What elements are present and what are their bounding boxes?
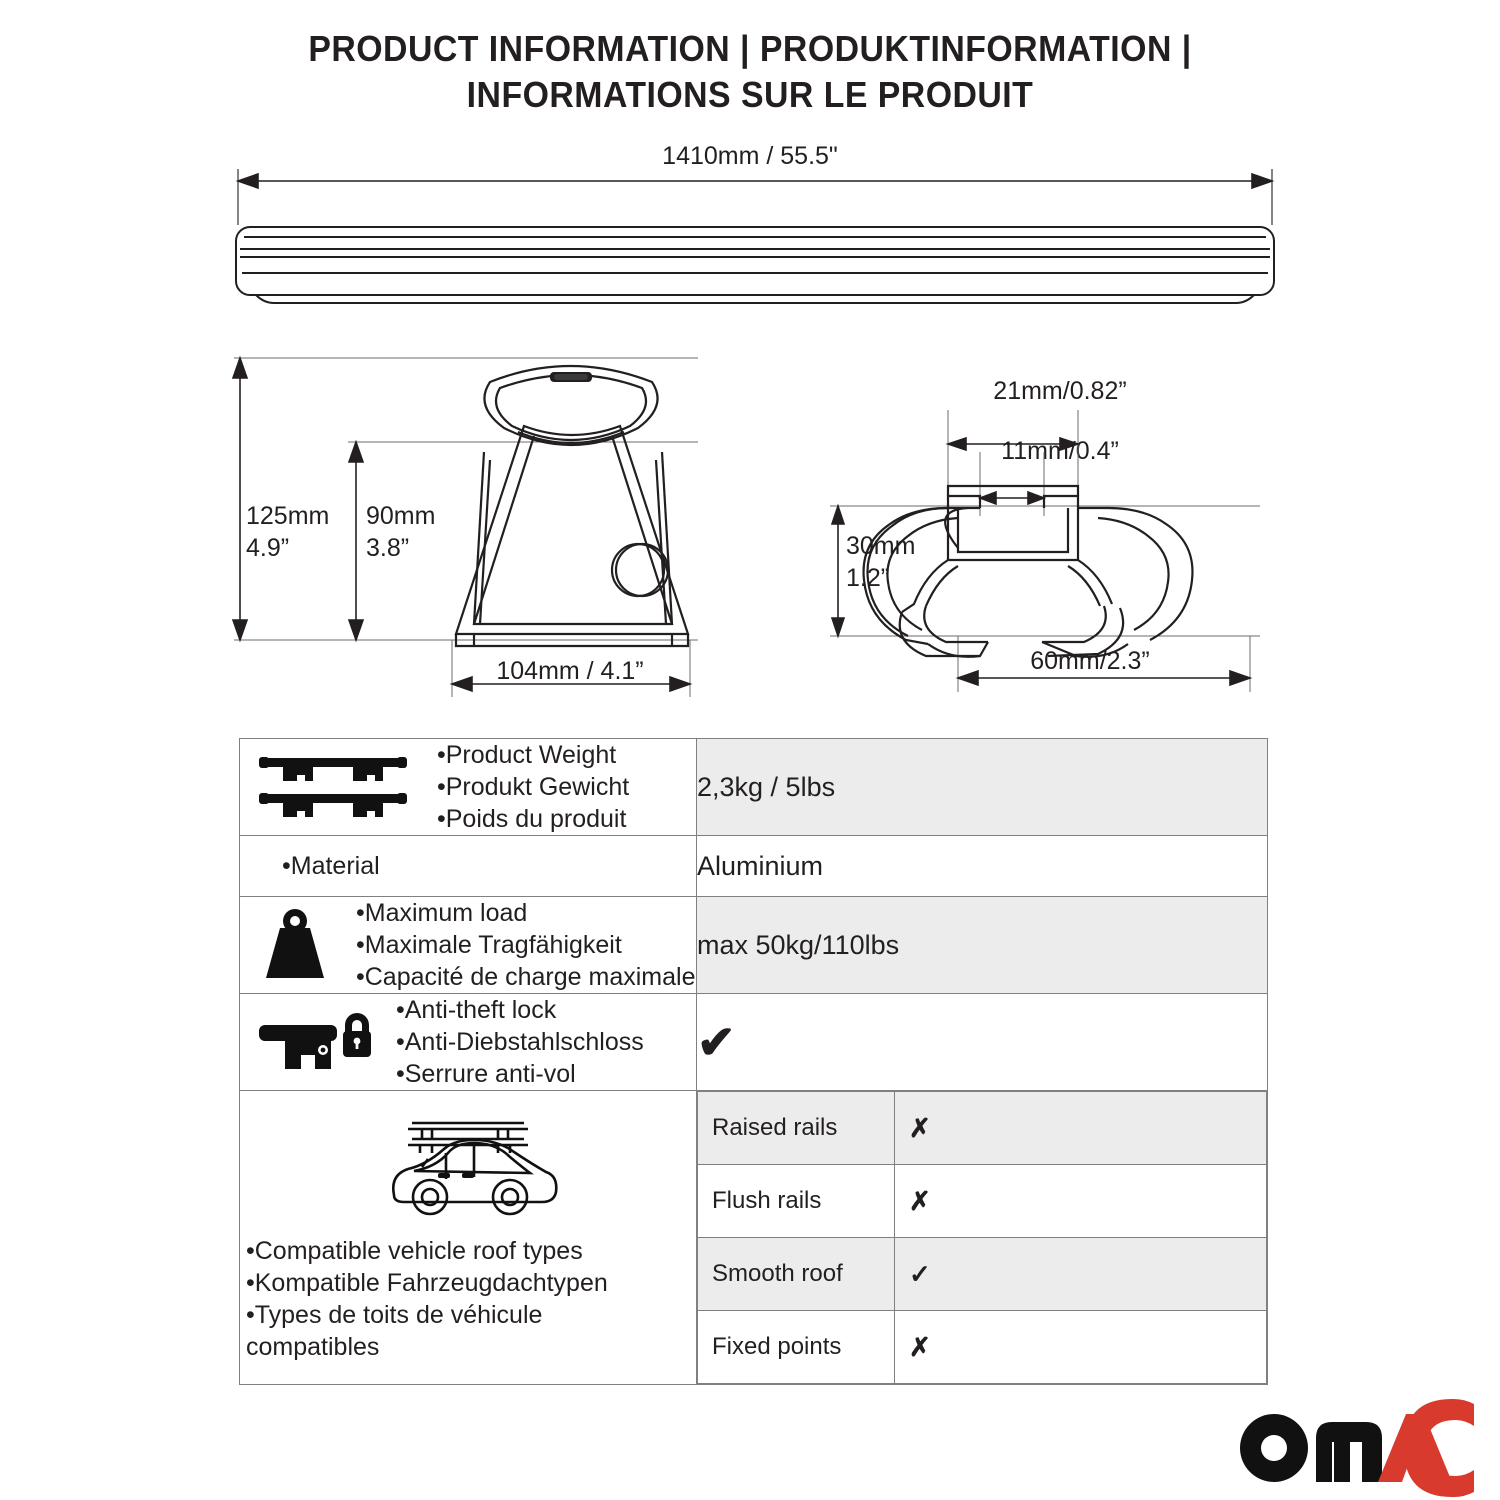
- material-label-cell: •Material: [240, 836, 697, 897]
- lock-label-cell: •Anti-theft lock •Anti-Diebstahlschloss …: [240, 994, 697, 1091]
- cross-icon: ✗: [895, 1113, 1266, 1144]
- page-title-line-1: PRODUCT INFORMATION | PRODUKTINFORMATION…: [45, 26, 1455, 72]
- table-row: •Compatible vehicle roof types •Kompatib…: [240, 1091, 1268, 1385]
- foot-front-view-diagram: [228, 352, 708, 702]
- material-value: Aluminium: [697, 836, 1268, 897]
- label-line: •Maximum load: [356, 897, 695, 929]
- compat-labels: •Compatible vehicle roof types •Kompatib…: [240, 1235, 608, 1363]
- omac-logo: [1238, 1412, 1474, 1484]
- roof-type-row: Flush rails ✗: [698, 1165, 1267, 1238]
- table-row: •Product Weight •Produkt Gewicht •Poids …: [240, 739, 1268, 836]
- roof-type-row: Raised rails ✗: [698, 1092, 1267, 1165]
- label-line: •Anti-Diebstahlschloss: [396, 1026, 644, 1058]
- label-line: •Serrure anti-vol: [396, 1058, 644, 1090]
- page-title-line-2: INFORMATIONS SUR LE PRODUIT: [45, 72, 1455, 118]
- label-line: •Types de toits de véhicule: [246, 1299, 608, 1331]
- bar-cross-section-diagram: [820, 400, 1290, 700]
- table-row: •Maximum load •Maximale Tragfähigkeit •C…: [240, 897, 1268, 994]
- table-row: •Anti-theft lock •Anti-Diebstahlschloss …: [240, 994, 1268, 1091]
- spec-table: •Product Weight •Produkt Gewicht •Poids …: [239, 738, 1268, 1385]
- page-title: PRODUCT INFORMATION | PRODUKTINFORMATION…: [0, 26, 1500, 118]
- weight-icon: [240, 908, 350, 982]
- table-row: •Material Aluminium: [240, 836, 1268, 897]
- cross-icon: ✗: [895, 1186, 1266, 1217]
- weight-labels: •Product Weight •Produkt Gewicht •Poids …: [431, 739, 629, 835]
- label-line: •Maximale Tragfähigkeit: [356, 929, 695, 961]
- weight-value: 2,3kg / 5lbs: [697, 739, 1268, 836]
- label-line: •Anti-theft lock: [396, 994, 644, 1026]
- label-line: •Capacité de charge maximale: [356, 961, 695, 993]
- label-line: •Product Weight: [437, 739, 629, 771]
- maxload-value: max 50kg/110lbs: [697, 897, 1268, 994]
- label-line: compatibles: [246, 1331, 608, 1363]
- roof-type-row: Smooth roof ✓: [698, 1238, 1267, 1311]
- cross-icon: ✗: [895, 1332, 1266, 1363]
- lock-icon: [240, 1009, 390, 1075]
- roof-type-name: Smooth roof: [698, 1238, 895, 1311]
- car-with-rack-icon: [240, 1109, 696, 1229]
- roof-type-name: Flush rails: [698, 1165, 895, 1238]
- roof-types-cell: Raised rails ✗ Flush rails ✗: [697, 1091, 1268, 1385]
- maxload-label-cell: •Maximum load •Maximale Tragfähigkeit •C…: [240, 897, 697, 994]
- roof-type-mark: ✗: [895, 1311, 1267, 1384]
- label-line: •Produkt Gewicht: [437, 771, 629, 803]
- lock-labels: •Anti-theft lock •Anti-Diebstahlschloss …: [396, 994, 644, 1090]
- roof-type-row: Fixed points ✗: [698, 1311, 1267, 1384]
- compat-label-cell: •Compatible vehicle roof types •Kompatib…: [240, 1091, 697, 1385]
- roof-type-name: Raised rails: [698, 1092, 895, 1165]
- label-line: •Kompatible Fahrzeugdachtypen: [246, 1267, 608, 1299]
- maxload-labels: •Maximum load •Maximale Tragfähigkeit •C…: [356, 897, 695, 993]
- label-line: •Compatible vehicle roof types: [246, 1235, 608, 1267]
- bar-top-view-diagram: [230, 165, 1280, 310]
- check-icon: ✔: [697, 1016, 736, 1068]
- label-line: •Poids du produit: [437, 803, 629, 835]
- roof-type-mark: ✗: [895, 1165, 1267, 1238]
- label-line: •Material: [282, 850, 696, 882]
- roof-type-mark: ✗: [895, 1092, 1267, 1165]
- crossbars-icon: [240, 752, 425, 822]
- roof-type-name: Fixed points: [698, 1311, 895, 1384]
- check-icon: ✓: [895, 1259, 1266, 1290]
- lock-value: ✔: [697, 994, 1268, 1091]
- roof-type-mark: ✓: [895, 1238, 1267, 1311]
- weight-label-cell: •Product Weight •Produkt Gewicht •Poids …: [240, 739, 697, 836]
- roof-types-table: Raised rails ✗ Flush rails ✗: [697, 1091, 1267, 1384]
